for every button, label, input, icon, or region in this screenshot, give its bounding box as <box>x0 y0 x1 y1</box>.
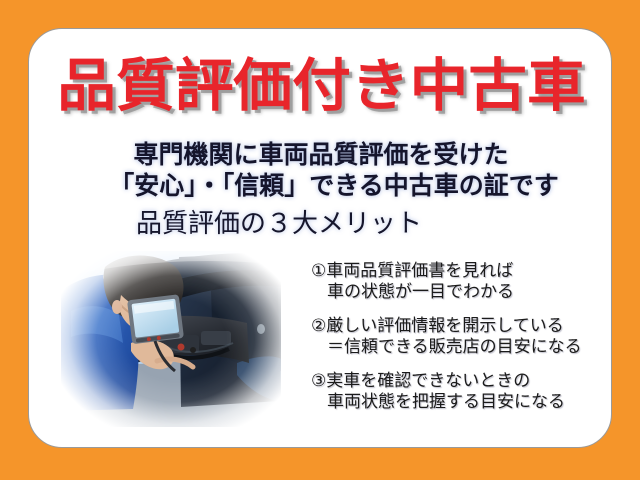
banner-card: 品質評価付き中古車 専門機関に車両品質評価を受けた 「安心」・「信頼」できる中古… <box>28 28 612 448</box>
benefit-2-line-1: ②厳しい評価情報を開示している <box>311 316 611 337</box>
benefit-item-2: ②厳しい評価情報を開示している ＝信頼できる販売店の目安になる <box>311 316 611 358</box>
inspection-photo <box>61 251 281 427</box>
benefit-3-marker: ③ <box>311 371 326 391</box>
benefit-1-text-1: 車両品質評価書を見れば <box>326 261 513 281</box>
benefit-1-line-1: ①車両品質評価書を見れば <box>311 261 611 282</box>
subtitle-line-2: 「安心」・「信頼」できる中古車の証です <box>29 170 612 201</box>
inspection-photo-illustration <box>61 251 281 427</box>
benefit-1-line-2: 車の状態が一目でわかる <box>311 282 611 303</box>
used-car-quality-banner: 品質評価付き中古車 専門機関に車両品質評価を受けた 「安心」・「信頼」できる中古… <box>0 0 640 480</box>
subtitle-line-1: 専門機関に車両品質評価を受けた <box>29 139 612 170</box>
benefit-1-marker: ① <box>311 261 326 281</box>
section-heading: 品質評価の３大メリット <box>29 209 529 239</box>
benefit-3-line-2: 車両状態を把握する目安になる <box>311 392 611 413</box>
page-title: 品質評価付き中古車 <box>57 55 585 117</box>
benefit-2-marker: ② <box>311 316 326 336</box>
benefit-3-text-1: 実車を確認できないときの <box>326 371 530 391</box>
benefit-item-3: ③実車を確認できないときの 車両状態を把握する目安になる <box>311 371 611 413</box>
benefit-item-1: ①車両品質評価書を見れば 車の状態が一目でわかる <box>311 261 611 303</box>
benefit-2-line-2: ＝信頼できる販売店の目安になる <box>311 337 611 358</box>
subtitle: 専門機関に車両品質評価を受けた 「安心」・「信頼」できる中古車の証です <box>29 139 612 201</box>
title-container: 品質評価付き中古車 <box>29 55 612 117</box>
inspection-photo-image <box>61 251 281 427</box>
benefit-3-line-1: ③実車を確認できないときの <box>311 371 611 392</box>
benefits-list: ①車両品質評価書を見れば 車の状態が一目でわかる ②厳しい評価情報を開示している… <box>311 261 611 426</box>
benefit-2-text-1: 厳しい評価情報を開示している <box>326 316 564 336</box>
